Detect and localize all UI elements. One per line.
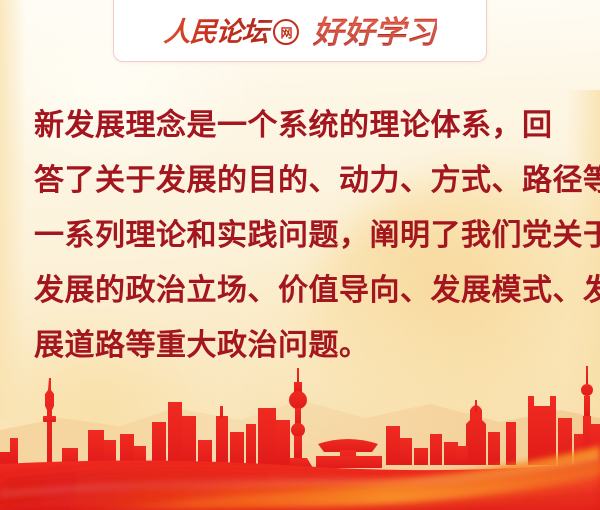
body-line-3: 一系列理论和实践问题，阐明了我们党关于	[34, 208, 570, 263]
net-circle-icon: 网	[273, 19, 299, 45]
body-line-5: 展道路等重大政治问题。	[34, 318, 570, 373]
site-logo[interactable]: 人民论坛 网	[162, 10, 300, 49]
body-line-2: 答了关于发展的目的、动力、方式、路径等	[34, 153, 570, 208]
body-line-4: 发展的政治立场、价值导向、发展模式、发	[34, 263, 570, 318]
background-edge-left	[0, 0, 26, 420]
poster-root: 人民论坛 网 好好学习 新发展理念是一个系统的理论体系，回 答了关于发展的目的、…	[0, 0, 600, 510]
body-line-1: 新发展理念是一个系统的理论体系，回	[34, 98, 570, 153]
header-card: 人民论坛 网 好好学习	[113, 0, 487, 62]
skyline-buildings	[0, 366, 600, 468]
skyline-svg	[0, 360, 600, 510]
city-skyline	[0, 360, 600, 510]
poster-title: 好好学习	[313, 7, 437, 52]
domed-tower	[466, 405, 486, 465]
body-text-block: 新发展理念是一个系统的理论体系，回 答了关于发展的目的、动力、方式、路径等 一系…	[34, 98, 570, 373]
site-logo-text: 人民论坛	[162, 10, 269, 49]
notched-top-skyscraper	[528, 396, 556, 465]
